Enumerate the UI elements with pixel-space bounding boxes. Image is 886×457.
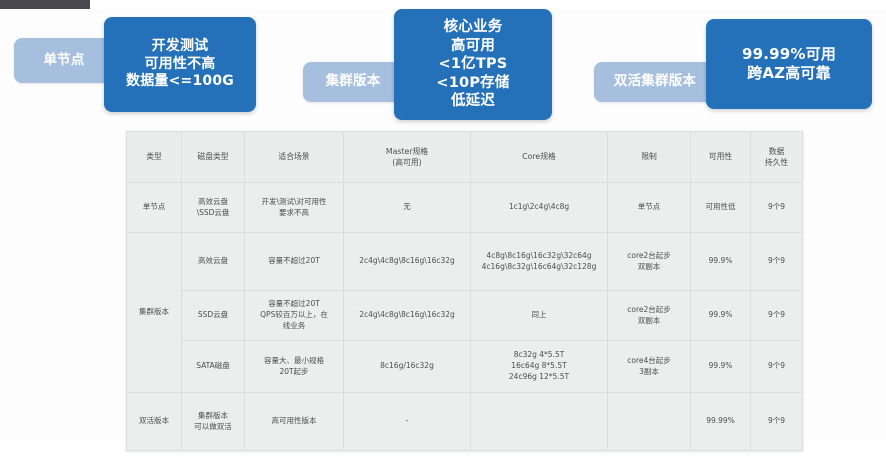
cell-core: 同上 bbox=[471, 291, 608, 341]
cell-core: 8c32g 4*5.5T 16c64g 8*5.5T 24c96g 12*5.5… bbox=[471, 341, 608, 393]
top-dark-bar bbox=[0, 0, 90, 9]
column-header-core-spec: Core规格 bbox=[471, 132, 608, 183]
cell-availability: 99.9% bbox=[691, 233, 751, 291]
cell-limit: 单节点 bbox=[608, 183, 691, 233]
column-header-scenario: 适合场景 bbox=[245, 132, 344, 183]
cell-scene: 容量大、最小规格 20T起步 bbox=[245, 341, 344, 393]
cell-disk: SATA磁盘 bbox=[182, 341, 245, 393]
cell-scene: 容量不超过20T bbox=[245, 233, 344, 291]
column-header-type: 类型 bbox=[127, 132, 182, 183]
cell-core: 4c8g\8c16g\16c32g\32c64g 4c16g\8c32g\16c… bbox=[471, 233, 608, 291]
column-header-durability: 数据 持久性 bbox=[751, 132, 803, 183]
cell-master: - bbox=[344, 393, 471, 451]
cell-durability: 9个9 bbox=[751, 341, 803, 393]
cell-availability: 99.9% bbox=[691, 291, 751, 341]
header-detail-single-node: 开发测试 可用性不高 数据量<=100G bbox=[104, 17, 256, 112]
table-row: 单节点 高效云盘 \SSD云盘 开发\测试\对可用性 要求不高 无 1c1g\2… bbox=[127, 183, 803, 233]
cell-type: 集群版本 bbox=[127, 233, 182, 393]
table-row: 集群版本 高效云盘 容量不超过20T 2c4g\4c8g\8c16g\16c32… bbox=[127, 233, 803, 291]
cell-durability: 9个9 bbox=[751, 393, 803, 451]
cell-availability: 99.99% bbox=[691, 393, 751, 451]
cell-core bbox=[471, 393, 608, 451]
cell-durability: 9个9 bbox=[751, 233, 803, 291]
cell-disk: SSD云盘 bbox=[182, 291, 245, 341]
cell-limit: core2台起步 双副本 bbox=[608, 233, 691, 291]
cell-disk: 高效云盘 bbox=[182, 233, 245, 291]
cell-limit: core4台起步 3副本 bbox=[608, 341, 691, 393]
cell-disk: 高效云盘 \SSD云盘 bbox=[182, 183, 245, 233]
cell-scene: 容量不超过20T QPS较百万以上，在 线业务 bbox=[245, 291, 344, 341]
cell-scene: 高可用性版本 bbox=[245, 393, 344, 451]
cell-availability: 99.9% bbox=[691, 341, 751, 393]
cell-durability: 9个9 bbox=[751, 183, 803, 233]
cell-type: 单节点 bbox=[127, 183, 182, 233]
column-header-availability: 可用性 bbox=[691, 132, 751, 183]
table-row: 双活版本 集群版本 可以做双活 高可用性版本 - 99.99% 9个9 bbox=[127, 393, 803, 451]
column-header-limit: 限制 bbox=[608, 132, 691, 183]
header-tag-cluster: 集群版本 bbox=[303, 62, 403, 102]
spec-comparison-table: 类型 磁盘类型 适合场景 Master规格 (高可用) Core规格 限制 可用… bbox=[126, 131, 803, 451]
header-detail-dual-active-cluster: 99.99%可用 跨AZ高可靠 bbox=[706, 19, 872, 109]
cell-type: 双活版本 bbox=[127, 393, 182, 451]
cell-durability: 9个9 bbox=[751, 291, 803, 341]
header-detail-cluster: 核心业务 高可用 <1亿TPS <10P存储 低延迟 bbox=[394, 9, 552, 120]
cell-availability: 可用性低 bbox=[691, 183, 751, 233]
cell-master: 无 bbox=[344, 183, 471, 233]
column-header-disk-type: 磁盘类型 bbox=[182, 132, 245, 183]
slide-canvas: 单节点 开发测试 可用性不高 数据量<=100G 集群版本 核心业务 高可用 <… bbox=[0, 9, 886, 443]
cell-core: 1c1g\2c4g\4c8g bbox=[471, 183, 608, 233]
table-header-row: 类型 磁盘类型 适合场景 Master规格 (高可用) Core规格 限制 可用… bbox=[127, 132, 803, 183]
column-header-master-spec: Master规格 (高可用) bbox=[344, 132, 471, 183]
header-tag-dual-active-cluster: 双活集群版本 bbox=[594, 62, 716, 102]
header-tag-single-node: 单节点 bbox=[14, 38, 114, 83]
cell-master: 2c4g\4c8g\8c16g\16c32g bbox=[344, 233, 471, 291]
cell-master: 8c16g/16c32g bbox=[344, 341, 471, 393]
cell-limit: core2台起步 双副本 bbox=[608, 291, 691, 341]
cell-limit bbox=[608, 393, 691, 451]
cell-scene: 开发\测试\对可用性 要求不高 bbox=[245, 183, 344, 233]
table-row: SATA磁盘 容量大、最小规格 20T起步 8c16g/16c32g 8c32g… bbox=[127, 341, 803, 393]
table-row: SSD云盘 容量不超过20T QPS较百万以上，在 线业务 2c4g\4c8g\… bbox=[127, 291, 803, 341]
cell-master: 2c4g\4c8g\8c16g\16c32g bbox=[344, 291, 471, 341]
cell-disk: 集群版本 可以做双活 bbox=[182, 393, 245, 451]
